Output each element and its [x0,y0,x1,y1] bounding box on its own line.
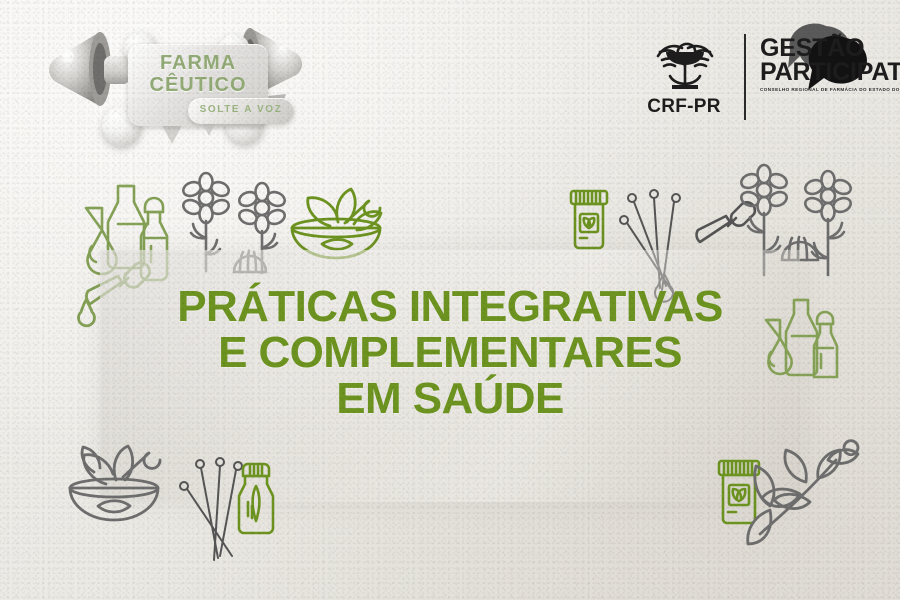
farmaceutico-logo[interactable]: FARMA CÊUTICO SOLTE A VOZ [40,18,308,150]
poster-canvas: PRÁTICAS INTEGRATIVAS E COMPLEMENTARES E… [0,0,900,600]
mortar-pestle-herbs-bottom-icon [64,432,172,538]
bowl-of-hygieia-icon [648,30,722,96]
gestao-line-2: PARTICIPATIVA [760,60,876,84]
supplement-jar-top-right-icon [566,188,612,250]
brand-line-2: CÊUTICO [128,74,268,97]
logo-divider [744,34,746,120]
brand-tagline: SOLTE A VOZ [188,104,294,115]
gestao-participativa-block: GESTÃO PARTICIPATIVA CONSELHO REGIONAL D… [760,36,876,92]
title-line-2: E COMPLEMENTARES [100,330,800,376]
gestao-subtitle: CONSELHO REGIONAL DE FARMÁCIA DO ESTADO … [760,87,876,92]
crf-gestao-logo[interactable]: CRF-PR GESTÃO PARTICIPATIVA CONSELHO REG… [632,28,878,128]
title-line-1: PRÁTICAS INTEGRATIVAS [100,284,800,330]
flask-bottles-right-icon [760,296,846,378]
leaf-branch-bottom-right-icon [744,438,862,554]
title-line-3: EM SAÚDE [100,376,800,422]
dropper-bottle-bottom-icon [232,460,280,538]
brand-line-1: FARMA [128,52,268,75]
crf-pr-label: CRF-PR [638,96,730,118]
gestao-line-1: GESTÃO [760,36,876,60]
page-title: PRÁTICAS INTEGRATIVAS E COMPLEMENTARES E… [100,284,800,421]
